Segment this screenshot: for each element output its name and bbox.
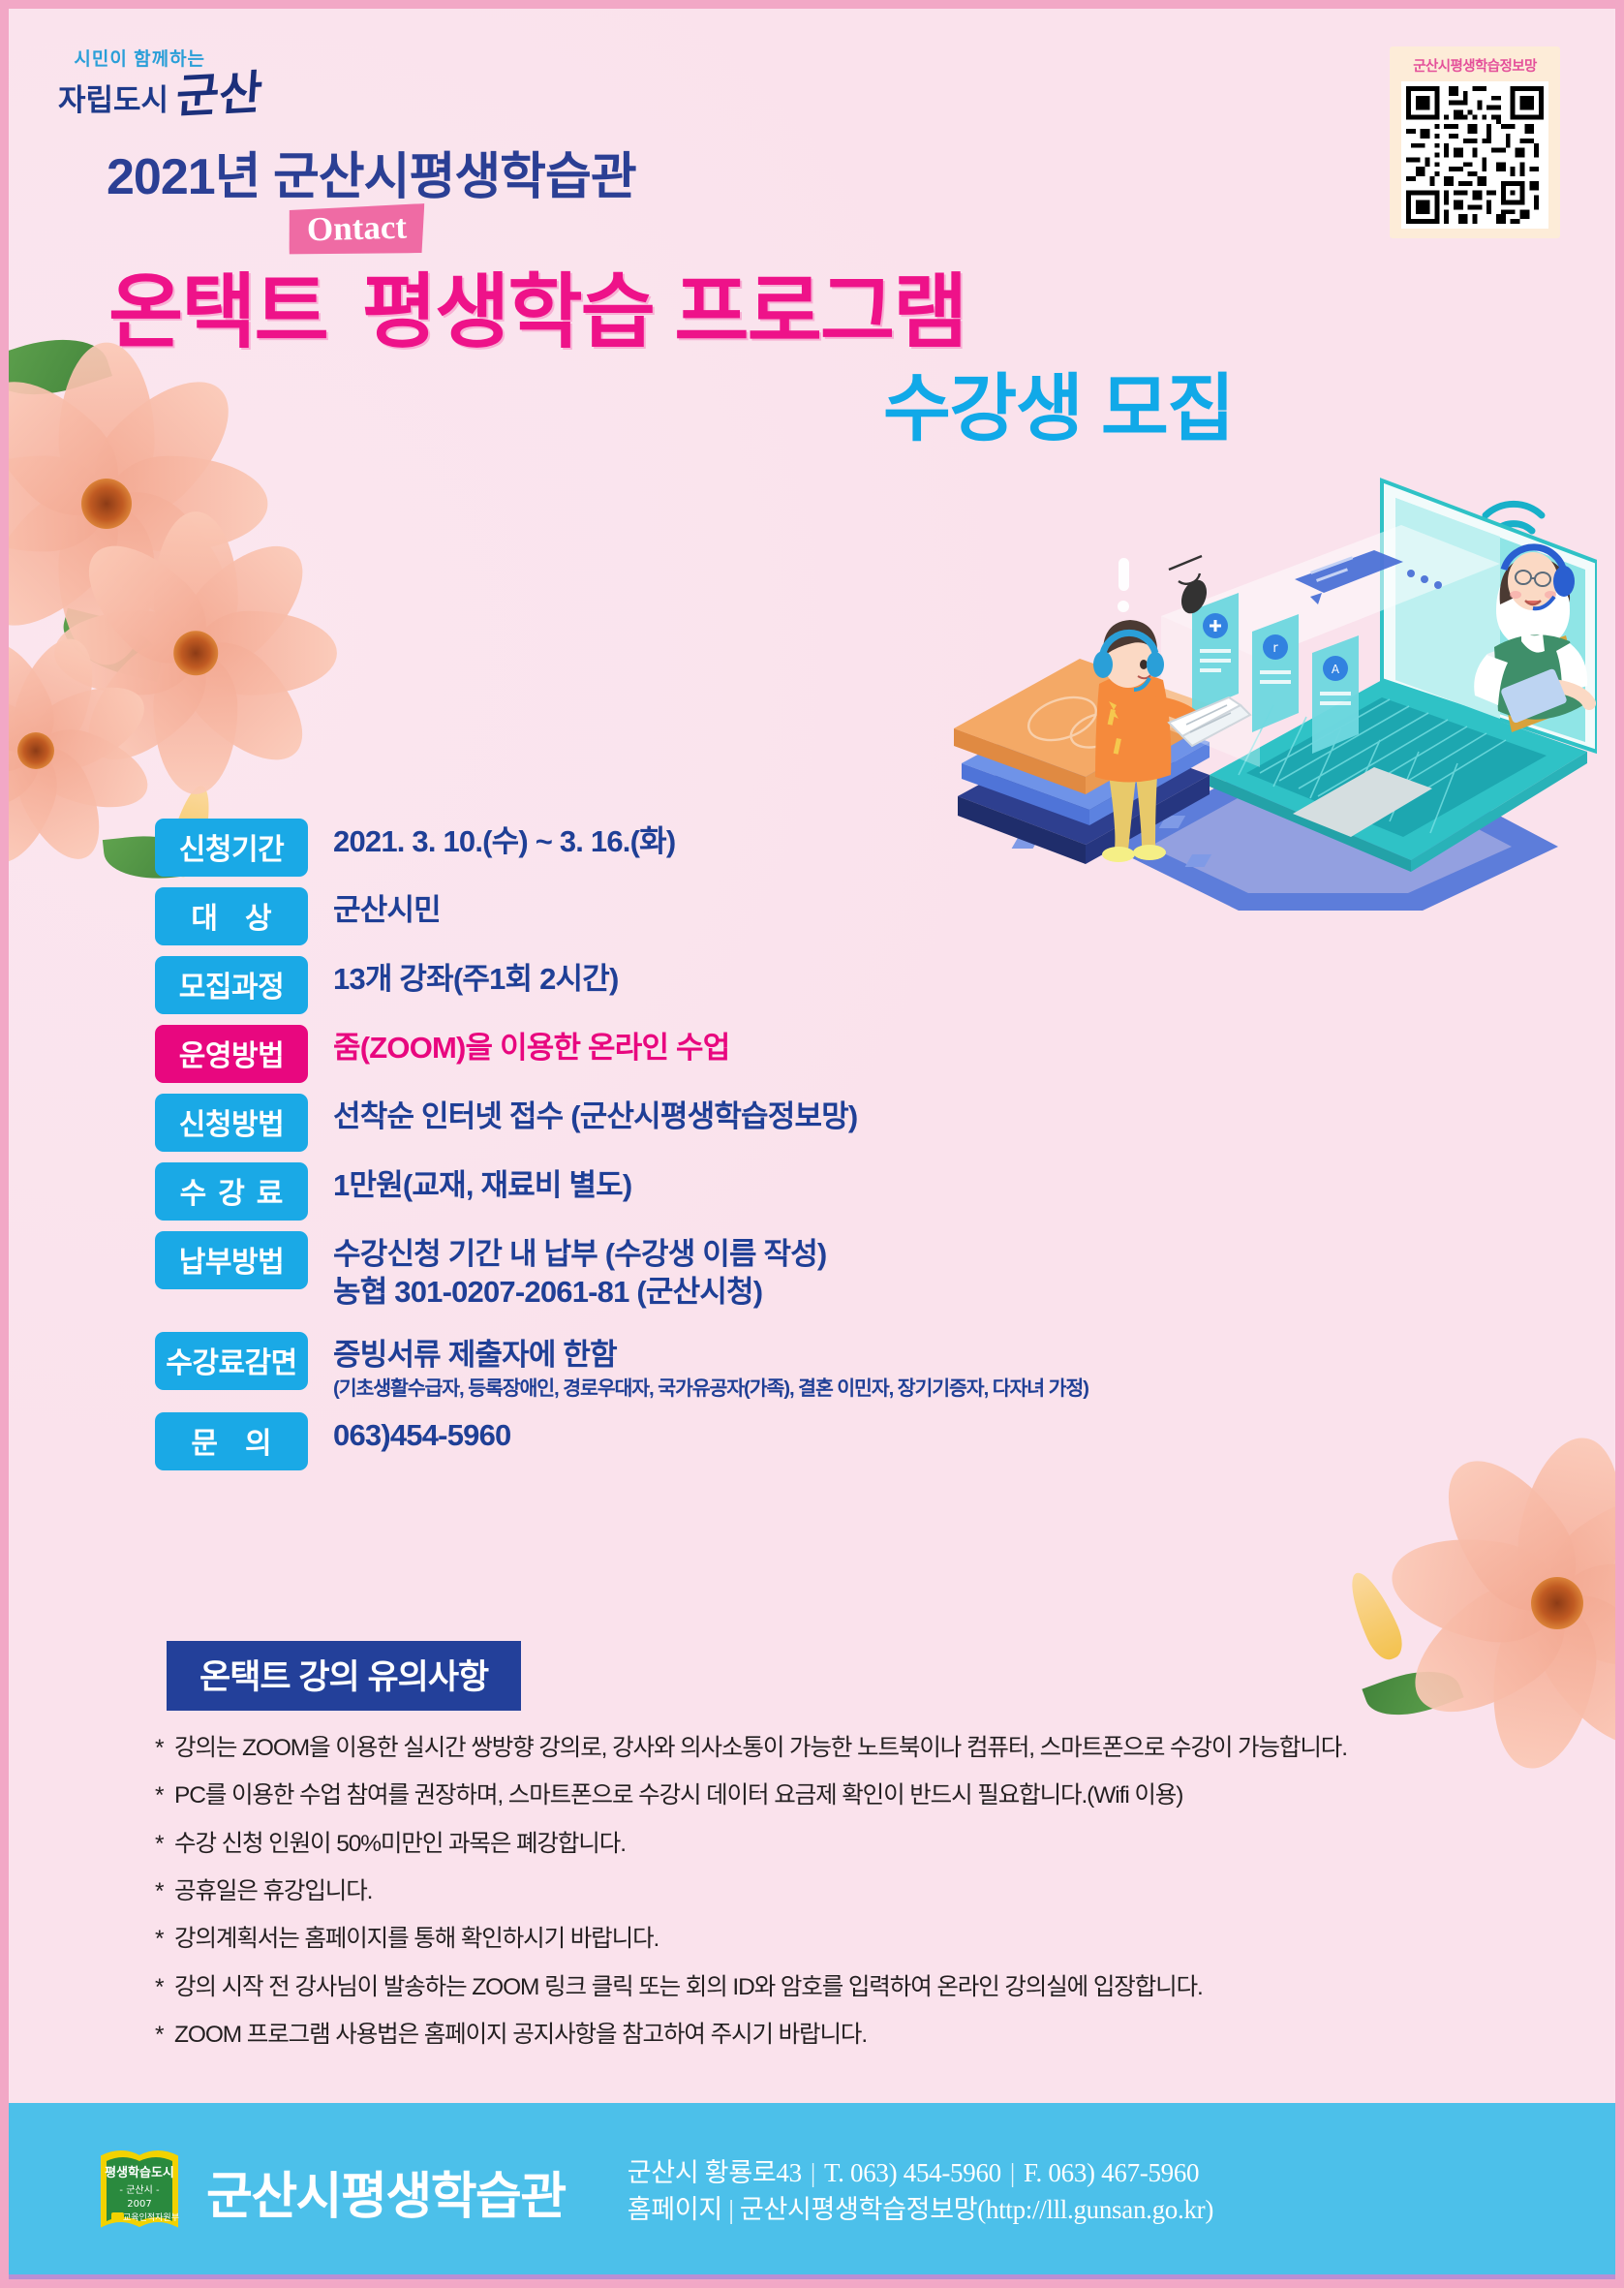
info-value-tuition-fee: 1만원(교재, 재료비 별도) (308, 1162, 631, 1204)
notice-item-text: 강의는 ZOOM을 이용한 실시간 쌍방향 강의로, 강사와 의사소통이 가능한… (174, 1732, 1540, 1764)
info-value-inquiry: 063)454-5960 (308, 1412, 510, 1454)
info-label-application-method: 신청방법 (155, 1094, 308, 1152)
notice-item: * PC를 이용한 수업 참여를 권장하며, 스마트폰으로 수강시 데이터 요금… (155, 1779, 1540, 1811)
ui-card-3: A (1312, 635, 1359, 754)
footer-contact-info: 군산시 황룡로43|T. 063) 454-5960|F. 063) 467-5… (628, 2154, 1213, 2229)
footer-fax: F. 063) 467-5960 (1024, 2158, 1199, 2187)
info-value-payment-method: 수강신청 기간 내 납부 (수강생 이름 작성) 농협 301-0207-206… (308, 1231, 826, 1311)
title-main-part2: 평생학습 프로그램 (362, 266, 966, 357)
city-logo-tagline: 시민이 함께하는 (17, 50, 261, 69)
bullet-star: * (155, 1875, 174, 1907)
info-value-application-period: 2021. 3. 10.(수) ~ 3. 16.(화) (308, 819, 675, 860)
footer-bar: 평생학습도시 - 군산시 - 2007 교육인적자원부 군산시평생학습관 군산시… (9, 2103, 1615, 2279)
svg-text:r: r (1272, 641, 1278, 656)
footer-org-name: 군산시평생학습관 (206, 2155, 566, 2228)
info-row-inquiry: 문의 063)454-5960 (155, 1412, 1501, 1470)
info-label-payment-method: 납부방법 (155, 1231, 308, 1289)
info-label-fee-reduction: 수강료감면 (155, 1332, 308, 1390)
footer-contact-line1: 군산시 황룡로43|T. 063) 454-5960|F. 063) 467-5… (628, 2154, 1213, 2191)
emblem-line2: - 군산시 - (119, 2184, 160, 2196)
notice-item: * 강의계획서는 홈페이지를 통해 확인하시기 바랍니다. (155, 1923, 1540, 1955)
notice-item: * 수강 신청 인원이 50%미만인 과목은 폐강합니다. (155, 1828, 1540, 1860)
footer-tel: T. 063) 454-5960 (824, 2158, 1001, 2187)
qr-code-box[interactable]: 군산시평생학습정보망 (1390, 46, 1560, 238)
bullet-star: * (155, 1779, 174, 1811)
title-main-part1: 온택트 (108, 266, 327, 357)
info-label-courses: 모집과정 (155, 956, 308, 1014)
fee-reduction-fineprint: (기초생활수급자, 등록장애인, 경로우대자, 국가유공자(가족), 결혼 이민… (333, 1376, 1088, 1402)
bullet-star: * (155, 2019, 174, 2051)
info-row-tuition-fee: 수강료 1만원(교재, 재료비 별도) (155, 1162, 1501, 1221)
footer-address: 군산시 황룡로43 (628, 2158, 802, 2187)
ui-card-1 (1192, 593, 1239, 713)
info-row-target: 대상 군산시민 (155, 887, 1501, 945)
notice-item-text: PC를 이용한 수업 참여를 권장하며, 스마트폰으로 수강시 데이터 요금제 … (174, 1779, 1540, 1811)
info-row-courses: 모집과정 13개 강좌(주1회 2시간) (155, 956, 1501, 1014)
notice-item-text: 수강 신청 인원이 50%미만인 과목은 폐강합니다. (174, 1828, 1540, 1860)
info-value-operation-method: 줌(ZOOM)을 이용한 온라인 수업 (308, 1025, 729, 1067)
fee-reduction-main: 증빙서류 제출자에 한함 (333, 1338, 617, 1372)
city-logo-subtitle: 자립도시 (58, 85, 169, 115)
emblem-line4: 교육인적자원부 (123, 2211, 179, 2223)
notice-item-text: ZOOM 프로그램 사용법은 홈페이지 공지사항을 참고하여 주시기 바랍니다. (174, 2019, 1540, 2051)
page-title-main: 온택트평생학습 프로그램 (108, 247, 965, 364)
info-label-application-period: 신청기간 (155, 819, 308, 877)
info-value-courses: 13개 강좌(주1회 2시간) (308, 956, 618, 998)
notice-item: * 공휴일은 휴강입니다. (155, 1875, 1540, 1907)
poster-root: 시민이 함께하는 자립도시 군산 군산시평생학습정보망 (0, 0, 1624, 2288)
bullet-star: * (155, 1732, 174, 1764)
lifelong-learning-city-emblem: 평생학습도시 - 군산시 - 2007 교육인적자원부 (98, 2145, 181, 2238)
info-value-fee-reduction: 증빙서류 제출자에 한함 (기초생활수급자, 등록장애인, 경로우대자, 국가유… (308, 1332, 1088, 1402)
qr-code-image[interactable] (1401, 81, 1548, 229)
city-logo: 시민이 함께하는 자립도시 군산 (58, 50, 261, 115)
info-value-application-method: 선착순 인터넷 접수 (군산시평생학습정보망) (308, 1094, 857, 1135)
page-subtitle: 수강생 모집 (883, 349, 1234, 455)
emblem-line3: 2007 (127, 2199, 151, 2210)
info-value-target: 군산시민 (308, 887, 441, 929)
info-row-payment-method: 납부방법 수강신청 기간 내 납부 (수강생 이름 작성) 농협 301-020… (155, 1231, 1501, 1311)
info-row-application-method: 신청방법 선착순 인터넷 접수 (군산시평생학습정보망) (155, 1094, 1501, 1152)
ontact-badge: Ontact (288, 203, 425, 257)
bullet-star: * (155, 1828, 174, 1860)
qr-code-label: 군산시평생학습정보망 (1397, 55, 1552, 76)
bullet-star: * (155, 1923, 174, 1955)
info-row-operation-method: 운영방법 줌(ZOOM)을 이용한 온라인 수업 (155, 1025, 1501, 1083)
notice-item: * ZOOM 프로그램 사용법은 홈페이지 공지사항을 참고하여 주시기 바랍니… (155, 2019, 1540, 2051)
info-label-operation-method: 운영방법 (155, 1025, 308, 1083)
notice-item-text: 강의 시작 전 강사님이 발송하는 ZOOM 링크 클릭 또는 회의 ID와 암… (174, 1971, 1540, 2003)
svg-text:A: A (1332, 663, 1340, 676)
notice-item: * 강의는 ZOOM을 이용한 실시간 쌍방향 강의로, 강사와 의사소통이 가… (155, 1732, 1540, 1764)
info-table: 신청기간 2021. 3. 10.(수) ~ 3. 16.(화) 대상 군산시민… (155, 819, 1501, 1481)
info-label-tuition-fee: 수강료 (155, 1162, 308, 1221)
bullet-star: * (155, 1971, 174, 2003)
footer-contact-line2[interactable]: 홈페이지 | 군산시평생학습정보망(http://lll.gunsan.go.k… (628, 2191, 1213, 2228)
page-title-year: 2021년 군산시평생학습관 (107, 136, 636, 208)
ui-card-2: r (1252, 614, 1299, 732)
emblem-line1: 평생학습도시 (105, 2165, 174, 2180)
info-row-fee-reduction: 수강료감면 증빙서류 제출자에 한함 (기초생활수급자, 등록장애인, 경로우대… (155, 1332, 1501, 1402)
info-row-application-period: 신청기간 2021. 3. 10.(수) ~ 3. 16.(화) (155, 819, 1501, 877)
city-logo-brush-name: 군산 (174, 74, 263, 118)
notice-list: * 강의는 ZOOM을 이용한 실시간 쌍방향 강의로, 강사와 의사소통이 가… (155, 1732, 1540, 2066)
info-label-target: 대상 (155, 887, 308, 945)
payment-method-line1: 수강신청 기간 내 납부 (수강생 이름 작성) (333, 1237, 826, 1271)
notice-heading: 온택트 강의 유의사항 (167, 1641, 521, 1711)
notice-item-text: 공휴일은 휴강입니다. (174, 1875, 1540, 1907)
notice-item-text: 강의계획서는 홈페이지를 통해 확인하시기 바랍니다. (174, 1923, 1540, 1955)
info-label-inquiry: 문의 (155, 1412, 308, 1470)
notice-item: * 강의 시작 전 강사님이 발송하는 ZOOM 링크 클릭 또는 회의 ID와… (155, 1971, 1540, 2003)
payment-method-line2: 농협 301-0207-2061-81 (군산시청) (333, 1273, 826, 1311)
